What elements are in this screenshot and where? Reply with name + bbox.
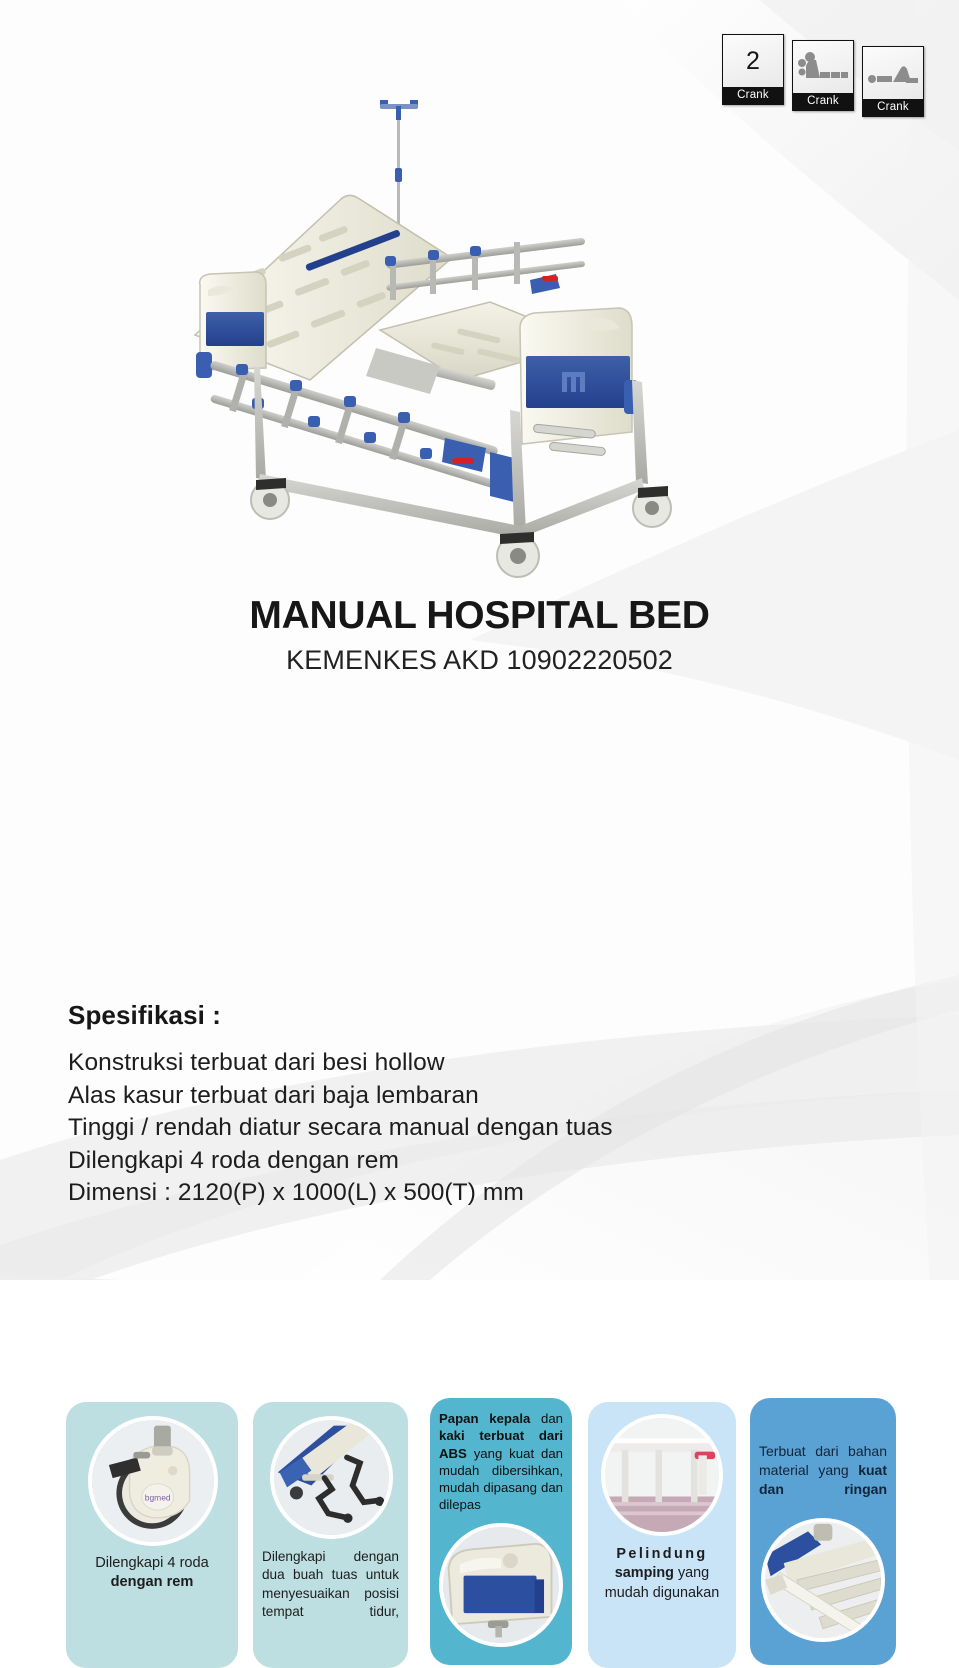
feature-card-side-rails-text: Pelindungsamping yangmudah digunakan (597, 1545, 727, 1603)
feature-card-side-rails[interactable]: Pelindungsamping yangmudah digunakan (588, 1402, 736, 1668)
abs-headboard-photo (439, 1523, 563, 1647)
knee-raise-icon (863, 47, 923, 99)
page-title: MANUAL HOSPITAL BED (0, 594, 959, 638)
headboard-left (196, 272, 266, 378)
crank-caption: Crank (793, 93, 853, 110)
feature-card-castors[interactable]: bgmed Dilengkapi 4 rodadengan rem (66, 1402, 238, 1668)
feature-card-castors-text: Dilengkapi 4 rodadengan rem (75, 1554, 229, 1593)
feature-card-abs-panels[interactable]: Papan kepala dan kaki terbuat dari ABS y… (430, 1398, 572, 1665)
crank-caption: Crank (863, 99, 923, 116)
specifications-block: Spesifikasi : Konstruksi terbuat dari be… (68, 1000, 868, 1210)
footboard-right (520, 308, 638, 444)
spec-line: Tinggi / rendah diatur secara manual den… (68, 1112, 868, 1145)
feature-card-cranks[interactable]: Dilengkapi dengan dua buah tuas untuk me… (253, 1402, 408, 1668)
bed-frame-photo (761, 1518, 885, 1642)
feature-card-cranks-text: Dilengkapi dengan dua buah tuas untuk me… (262, 1548, 399, 1621)
crank-badge-head: Crank (792, 40, 854, 111)
spec-line: Alas kasur terbuat dari baja lembaran (68, 1080, 868, 1113)
head-raise-icon (793, 41, 853, 93)
manual-hospital-bed-photo (190, 80, 790, 600)
caster-wheel-photo: bgmed (88, 1416, 218, 1546)
side-rail-photo (601, 1414, 723, 1536)
crank-handles-photo (270, 1416, 393, 1539)
feature-card-material[interactable]: Terbuat dari bahan material yang kuat da… (750, 1398, 896, 1665)
feature-card-material-text: Terbuat dari bahan material yang kuat da… (759, 1442, 887, 1499)
feature-card-abs-panels-text: Papan kepala dan kaki terbuat dari ABS y… (439, 1410, 563, 1514)
spec-line: Dilengkapi 4 roda dengan rem (68, 1145, 868, 1178)
spec-line: Konstruksi terbuat dari besi hollow (68, 1047, 868, 1080)
spec-line: Dimensi : 2120(P) x 1000(L) x 500(T) mm (68, 1177, 868, 1210)
feature-card-row: bgmed Dilengkapi 4 rodadengan rem (0, 700, 959, 975)
specifications-heading: Spesifikasi : (68, 1000, 868, 1031)
page-subtitle: KEMENKES AKD 10902220502 (0, 645, 959, 676)
svg-text:bgmed: bgmed (145, 1493, 171, 1503)
crank-badge-knee: Crank (862, 46, 924, 117)
crank-count-label: 2 (746, 49, 760, 74)
